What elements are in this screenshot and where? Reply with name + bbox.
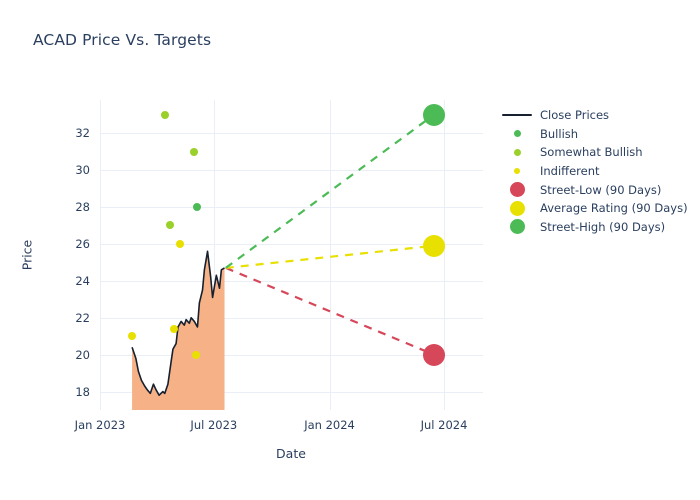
y-tick-label: 30 bbox=[75, 163, 90, 177]
target-trend-line bbox=[226, 246, 434, 268]
rating-marker bbox=[176, 240, 184, 248]
legend-label: Somewhat Bullish bbox=[534, 145, 643, 159]
y-tick-label: 28 bbox=[75, 200, 90, 214]
x-tick-label: Jan 2024 bbox=[304, 418, 355, 432]
legend-label: Street-High (90 Days) bbox=[534, 220, 665, 234]
chart-title: ACAD Price Vs. Targets bbox=[33, 31, 211, 49]
x-tick-label: Jul 2023 bbox=[190, 418, 237, 432]
legend-item[interactable]: Average Rating (90 Days) bbox=[500, 199, 688, 218]
y-tick-label: 32 bbox=[75, 126, 90, 140]
y-tick-label: 24 bbox=[75, 274, 90, 288]
target-trend-line bbox=[226, 268, 434, 355]
legend-item[interactable]: Indifferent bbox=[500, 162, 688, 181]
y-axis-title: Price bbox=[20, 240, 35, 271]
legend-label: Average Rating (90 Days) bbox=[534, 201, 688, 215]
price-target-marker bbox=[423, 104, 445, 126]
y-tick-label: 22 bbox=[75, 311, 90, 325]
rating-marker bbox=[193, 203, 201, 211]
x-tick-label: Jan 2023 bbox=[75, 418, 126, 432]
legend-label: Indifferent bbox=[534, 164, 600, 178]
legend-label: Close Prices bbox=[534, 108, 609, 122]
legend-item[interactable]: Close Prices bbox=[500, 106, 688, 125]
legend-swatch-icon bbox=[500, 201, 534, 216]
rating-marker bbox=[161, 111, 169, 119]
series-layer bbox=[100, 100, 483, 410]
rating-marker bbox=[128, 332, 136, 340]
legend-label: Street-Low (90 Days) bbox=[534, 183, 661, 197]
y-tick-label: 20 bbox=[75, 348, 90, 362]
plot-area bbox=[100, 100, 483, 410]
legend-label: Bullish bbox=[534, 127, 578, 141]
legend-swatch-icon bbox=[500, 168, 534, 174]
legend-swatch-icon bbox=[500, 130, 534, 137]
y-tick-label: 26 bbox=[75, 237, 90, 251]
legend-item[interactable]: Somewhat Bullish bbox=[500, 143, 688, 162]
rating-marker bbox=[190, 148, 198, 156]
rating-marker bbox=[170, 325, 178, 333]
legend-item[interactable]: Street-Low (90 Days) bbox=[500, 180, 688, 199]
chart-container: ACAD Price Vs. Targets Price Date 182022… bbox=[0, 0, 700, 500]
legend-swatch-icon bbox=[500, 219, 534, 234]
target-trend-line bbox=[226, 115, 434, 268]
price-target-marker bbox=[423, 235, 445, 257]
legend-swatch-icon bbox=[500, 182, 534, 197]
chart-legend: Close PricesBullishSomewhat BullishIndif… bbox=[500, 106, 688, 236]
y-tick-label: 18 bbox=[75, 385, 90, 399]
x-axis-title: Date bbox=[276, 446, 306, 461]
price-target-marker bbox=[423, 344, 445, 366]
x-tick-label: Jul 2024 bbox=[421, 418, 468, 432]
legend-item[interactable]: Bullish bbox=[500, 125, 688, 144]
legend-item[interactable]: Street-High (90 Days) bbox=[500, 218, 688, 237]
legend-swatch-icon bbox=[500, 114, 534, 116]
legend-swatch-icon bbox=[500, 149, 534, 156]
rating-marker bbox=[192, 351, 200, 359]
rating-marker bbox=[166, 221, 174, 229]
